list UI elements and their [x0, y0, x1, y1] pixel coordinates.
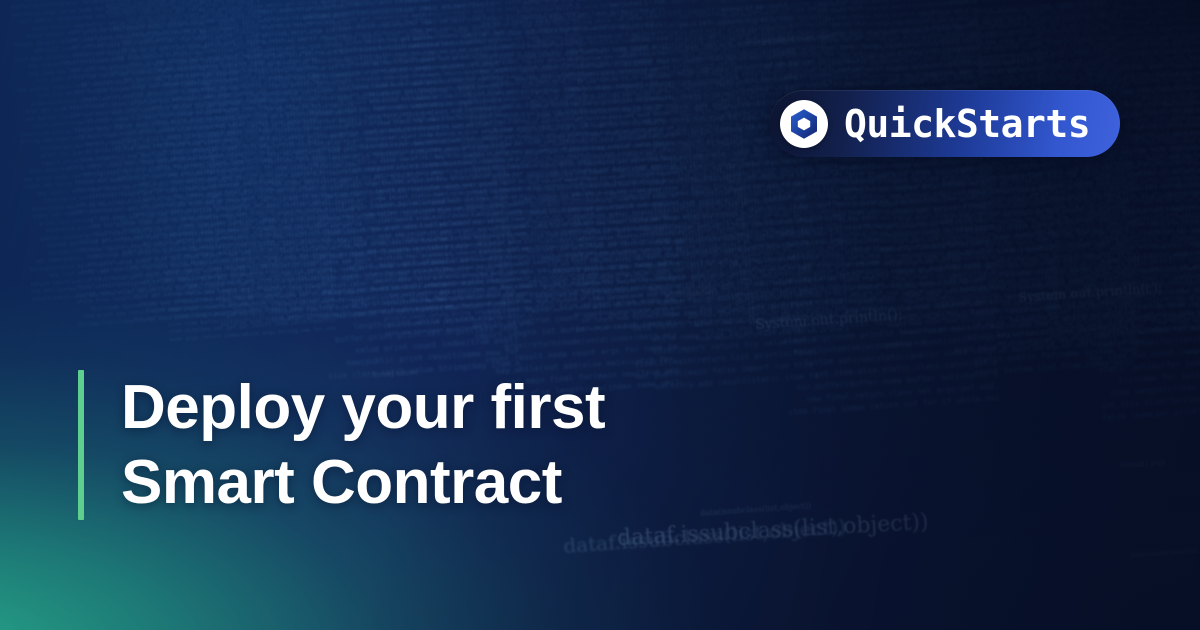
headline-block: Deploy your first Smart Contract: [78, 370, 605, 520]
chainlink-hexagon-icon: [780, 100, 828, 148]
page-title: Deploy your first Smart Contract: [121, 370, 605, 520]
headline-line-2: Smart Contract: [121, 445, 605, 520]
quickstarts-banner: node(get length value.result public(try …: [0, 0, 1200, 630]
quickstarts-badge-label: QuickStarts: [844, 102, 1090, 146]
quickstarts-badge[interactable]: QuickStarts: [770, 90, 1120, 157]
headline-line-1: Deploy your first: [121, 370, 605, 445]
green-accent-bar: [78, 370, 84, 520]
